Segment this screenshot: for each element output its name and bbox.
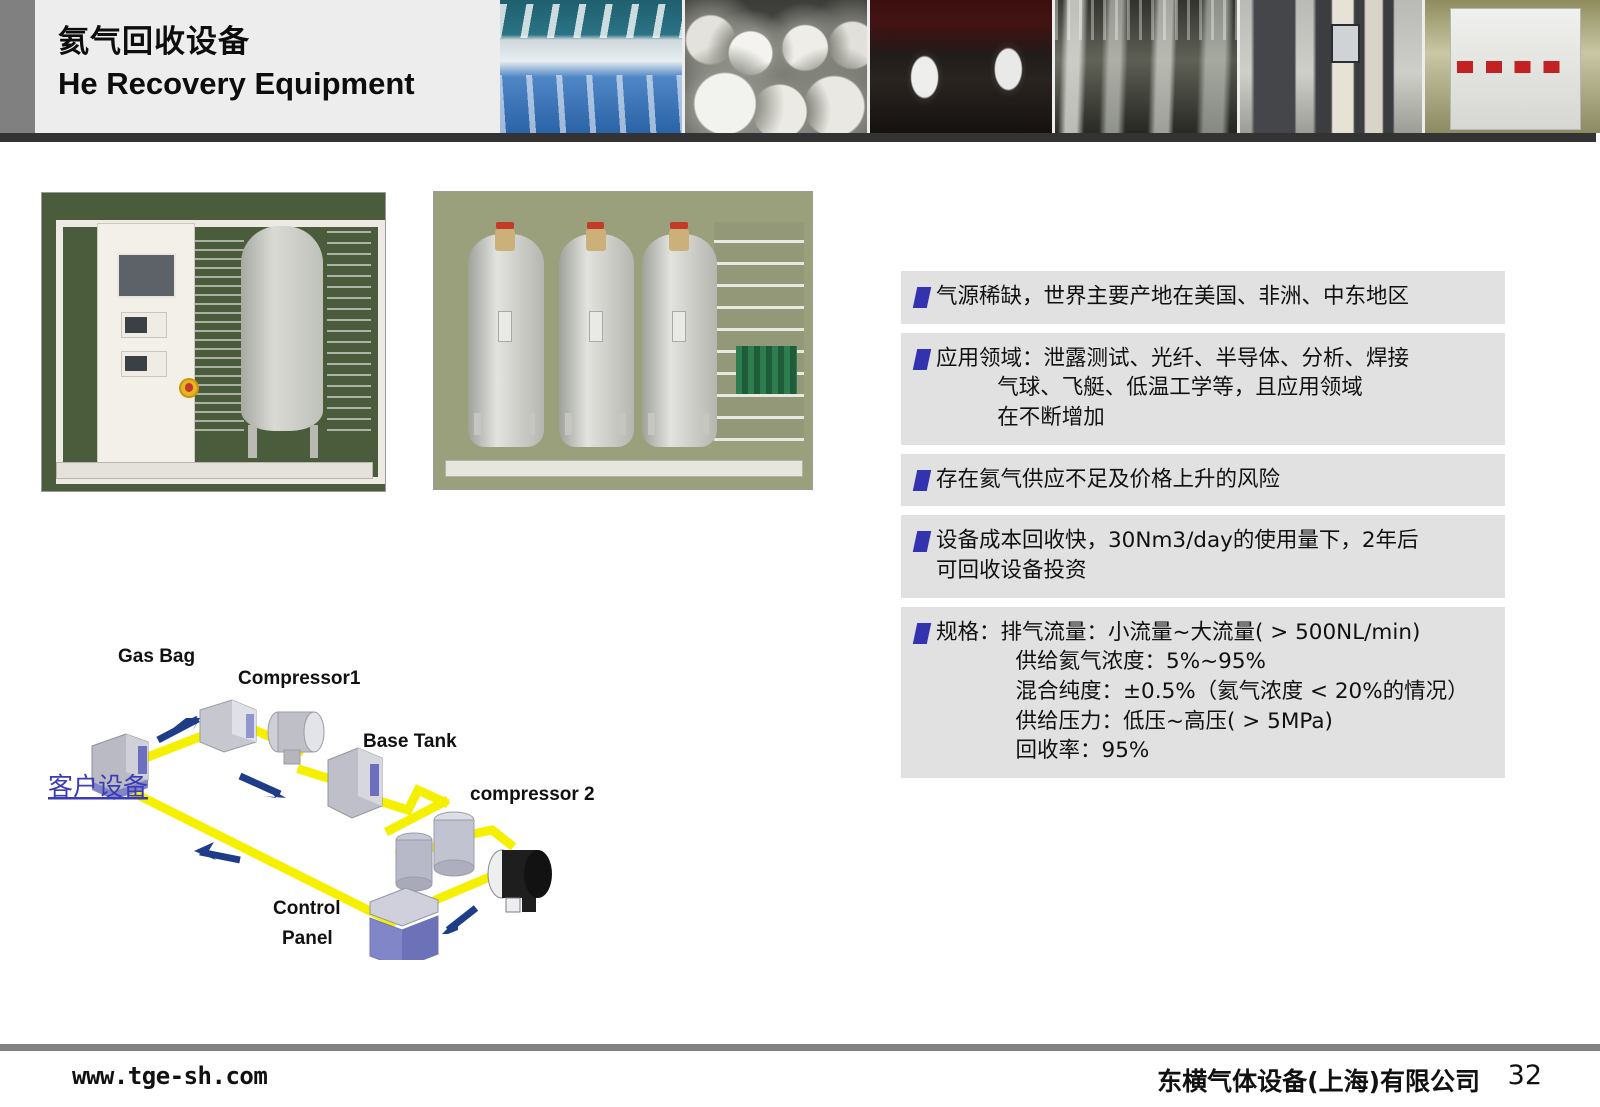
equipment-meter-lower bbox=[121, 351, 168, 377]
cleanroom-photo bbox=[500, 0, 682, 133]
control-panel-photo bbox=[1425, 0, 1600, 133]
adsorption-tank-2 bbox=[559, 234, 635, 448]
label-base-tank: Base Tank bbox=[363, 731, 457, 752]
header-photo-strip bbox=[500, 0, 1600, 133]
gas-bag-node bbox=[200, 700, 256, 752]
equipment-piping-right bbox=[327, 229, 372, 432]
label-control-panel-2: Panel bbox=[282, 928, 333, 949]
page-title-chinese: 氦气回收设备 bbox=[58, 24, 488, 62]
adsorption-tank-3 bbox=[642, 234, 718, 448]
header-left-accent-bar bbox=[0, 0, 35, 133]
footer-divider-rule bbox=[0, 1044, 1600, 1051]
tank-valve-1 bbox=[495, 229, 515, 250]
tank-leg-right bbox=[310, 425, 319, 458]
slide-header: 氦气回收设备 He Recovery Equipment bbox=[0, 0, 1600, 133]
equipment-base-rail bbox=[56, 462, 374, 479]
tank-gauge-3 bbox=[672, 311, 686, 343]
bullet-marker-icon bbox=[913, 623, 931, 644]
tank-legs-1 bbox=[468, 413, 544, 434]
bullet-panel-list: 气源稀缺，世界主要产地在美国、非洲、中东地区 应用领域：泄露测试、光纤、半导体、… bbox=[901, 271, 1505, 787]
equipment-buffer-tank bbox=[241, 226, 323, 432]
footer-company-name: 东横气体设备(上海)有限公司 bbox=[1157, 1062, 1480, 1098]
equipment-piping bbox=[193, 235, 244, 432]
bullet-marker-icon bbox=[913, 287, 931, 308]
tank-valve-3 bbox=[669, 229, 689, 250]
tank-photo-valve-bank bbox=[736, 346, 796, 394]
bullet-line: 混合纯度：±0.5%（氦气浓度 < 20%的情况） bbox=[936, 677, 1491, 707]
footer-website-url[interactable]: www.tge-sh.com bbox=[72, 1062, 267, 1090]
bullet-line: 供给压力：低压~高压( > 5MPa) bbox=[936, 707, 1491, 737]
he-recovery-flow-diagram: Gas Bag Compressor1 Base Tank compressor… bbox=[40, 630, 660, 960]
bullet-panel-supply-scarcity: 气源稀缺，世界主要产地在美国、非洲、中东地区 bbox=[901, 271, 1505, 324]
bullet-marker-icon bbox=[913, 531, 931, 552]
bullet-line: 规格：排气流量：小流量~大流量( > 500NL/min) bbox=[936, 618, 1491, 648]
bullet-line: 设备成本回收快，30Nm3/day的使用量下，2年后 bbox=[936, 526, 1491, 556]
emergency-stop-icon bbox=[179, 378, 199, 398]
arrow-4-head bbox=[442, 918, 458, 934]
bullet-marker-icon bbox=[913, 470, 931, 491]
label-compressor1: Compressor1 bbox=[238, 668, 361, 689]
adsorption-tank-1 bbox=[468, 234, 544, 448]
equipment-hmi-screen bbox=[117, 253, 176, 299]
bullet-line: 存在氦气供应不足及价格上升的风险 bbox=[936, 465, 1491, 495]
tank-leg-left bbox=[248, 425, 257, 458]
header-divider-rule bbox=[0, 133, 1596, 142]
tank-legs-2 bbox=[559, 413, 635, 434]
plant-interior-photo bbox=[1055, 0, 1237, 133]
bullet-panel-specifications: 规格：排气流量：小流量~大流量( > 500NL/min) 供给氦气浓度：5%~… bbox=[901, 607, 1505, 778]
label-compressor2: compressor 2 bbox=[470, 784, 595, 805]
header-title-block: 氦气回收设备 He Recovery Equipment bbox=[58, 24, 488, 104]
tank-photo-back-rack bbox=[714, 222, 805, 442]
bullet-panel-supply-price-risk: 存在氦气供应不足及价格上升的风险 bbox=[901, 454, 1505, 507]
dark-piping-photo bbox=[870, 0, 1052, 133]
tank-gauge-1 bbox=[498, 311, 512, 343]
bullet-line: 气源稀缺，世界主要产地在美国、非洲、中东地区 bbox=[936, 282, 1491, 312]
bullet-panel-application-fields: 应用领域：泄露测试、光纤、半导体、分析、焊接 气球、飞艇、低温工学等，且应用领域… bbox=[901, 333, 1505, 445]
tank-legs-3 bbox=[642, 413, 718, 434]
bullet-line: 在不断增加 bbox=[936, 403, 1491, 433]
compressor1-node bbox=[268, 712, 324, 764]
bullet-panel-cost-recovery: 设备成本回收快，30Nm3/day的使用量下，2年后 可回收设备投资 bbox=[901, 515, 1505, 597]
equipment-meter-upper bbox=[121, 312, 168, 338]
purifier-cabinet-node bbox=[328, 748, 382, 818]
tank-valve-2 bbox=[586, 229, 606, 250]
tank-equipment-photo bbox=[433, 191, 813, 490]
bullet-line: 供给氦气浓度：5%~95% bbox=[936, 647, 1491, 677]
tank-skid-base-rail bbox=[445, 460, 802, 477]
page-number: 32 bbox=[1508, 1060, 1542, 1091]
label-customer-equipment: 客户设备 bbox=[48, 772, 148, 801]
label-gas-bag: Gas Bag bbox=[118, 646, 195, 667]
tank-gauge-2 bbox=[589, 311, 603, 343]
main-equipment-photo bbox=[41, 192, 386, 492]
bullet-line: 回收率：95% bbox=[936, 736, 1491, 766]
compressor2-node bbox=[488, 850, 552, 912]
bullet-marker-icon bbox=[913, 349, 931, 370]
bullet-line: 可回收设备投资 bbox=[936, 556, 1491, 586]
page-title-english: He Recovery Equipment bbox=[58, 64, 488, 104]
server-cabinets-photo bbox=[1240, 0, 1422, 133]
bullet-line: 应用领域：泄露测试、光纤、半导体、分析、焊接 bbox=[936, 344, 1491, 374]
gas-cylinders-photo bbox=[685, 0, 867, 133]
bullet-line: 气球、飞艇、低温工学等，且应用领域 bbox=[936, 373, 1491, 403]
label-control-panel-1: Control bbox=[273, 898, 341, 919]
control-panel-node bbox=[370, 888, 438, 960]
